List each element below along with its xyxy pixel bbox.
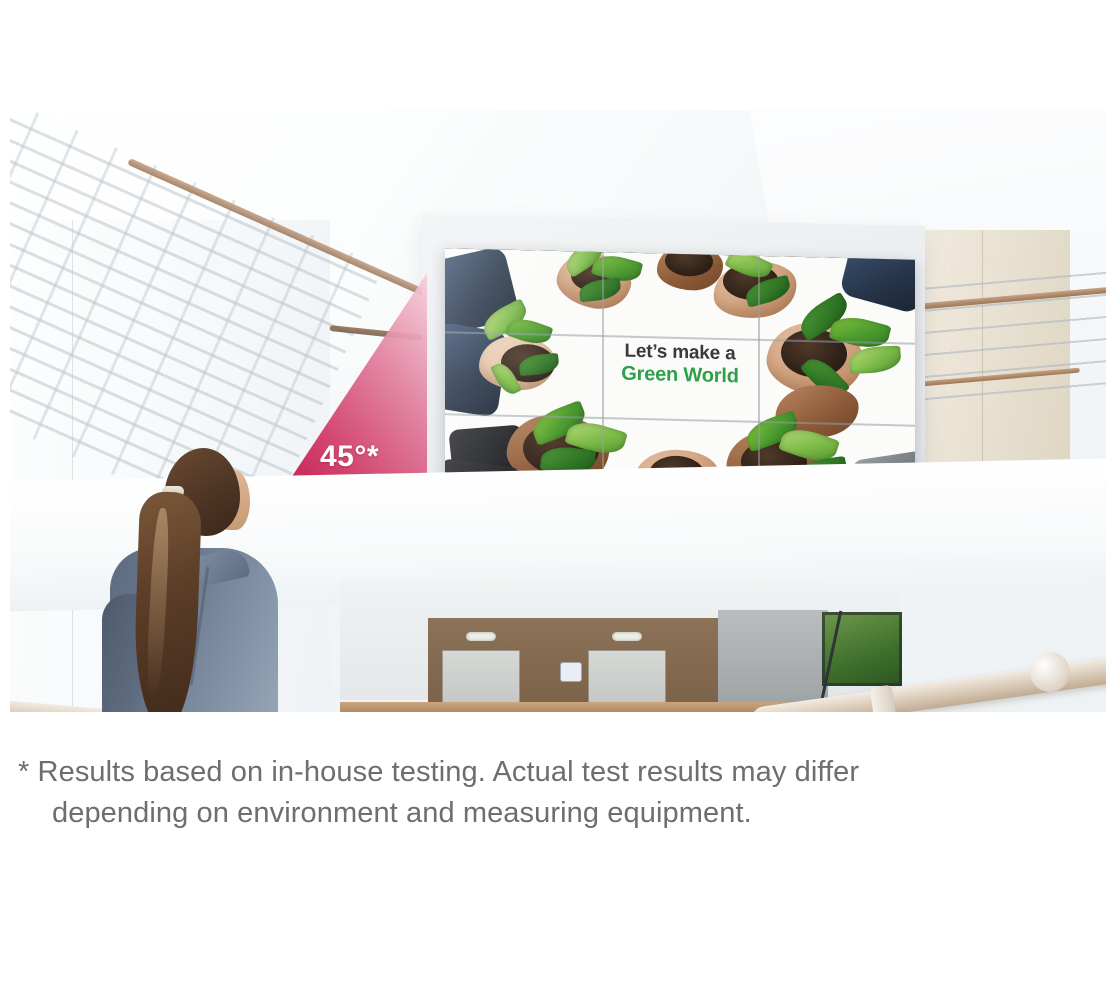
elevator-indicator	[466, 632, 496, 641]
footnote-line-2: depending on environment and measuring e…	[18, 793, 1098, 834]
upper-right-railing	[909, 252, 1106, 419]
elevator-door	[588, 650, 666, 710]
viewing-angle-wedge	[255, 155, 435, 455]
elevator-door	[442, 650, 520, 710]
footnote-line-1: * Results based on in-house testing. Act…	[18, 752, 1098, 793]
slide-page: Let’s make a Green World	[0, 0, 1116, 1000]
lobby-photo: Let’s make a Green World	[10, 110, 1106, 712]
viewing-angle-label: 45°*	[320, 440, 379, 474]
elevator-indicator	[612, 632, 642, 641]
elevator-wall	[428, 618, 718, 710]
footnote-disclaimer: * Results based on in-house testing. Act…	[0, 752, 1116, 834]
side-corridor	[718, 610, 828, 710]
wall-sign	[560, 662, 582, 682]
woman-viewer	[102, 448, 312, 712]
